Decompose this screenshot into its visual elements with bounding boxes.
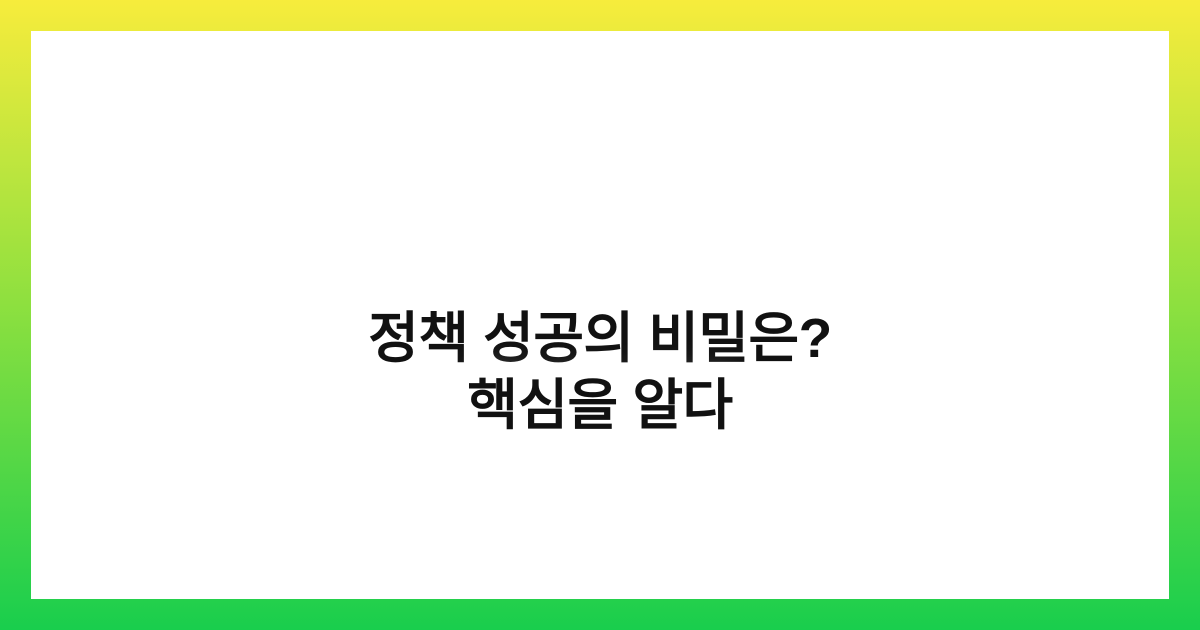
cohort-cell (982, 105, 1027, 128)
cohort-cell (759, 108, 804, 131)
metric-value: 2:41 (682, 210, 702, 222)
cohort-row-label: Jul 12 - Jul 18 (711, 162, 768, 174)
cohort-cell (952, 197, 997, 220)
metric-label: Avg. time (561, 226, 589, 236)
cohort-row-label: Jul 19 - Jul 25 (715, 184, 772, 196)
cohort-cell (905, 180, 950, 203)
cohort-cell (908, 202, 953, 225)
cohort-row-label: Jul 26 - Aug 01 (719, 205, 776, 217)
cohort-cell (1000, 214, 1045, 237)
cohort-cell (934, 89, 979, 112)
metric-value: 1,132 (666, 141, 690, 153)
cohort-cell (992, 171, 1037, 194)
cohort-cell (894, 115, 939, 138)
cohort-cell (949, 175, 994, 198)
metric-value: 512 (680, 176, 697, 187)
cohort-cell (854, 141, 899, 164)
cohort-cell (901, 158, 946, 181)
cohort-cell (985, 127, 1030, 150)
cohort-cell (766, 151, 811, 174)
metric-label: Active users (550, 156, 586, 167)
cohort-cell (945, 154, 990, 177)
page-title-line-1: 정책 성공의 비밀은? (368, 307, 831, 369)
cohort-row-label: All Users (704, 119, 761, 131)
cohort-cell (865, 207, 910, 230)
cohort-cell (941, 132, 986, 155)
cohort-cell (938, 110, 983, 133)
cohort-cell (857, 163, 902, 186)
cohort-cell (770, 173, 815, 196)
metric-label: New users (556, 191, 588, 201)
cohort-cell (978, 84, 1023, 107)
cohort-cell (810, 146, 855, 169)
cohort-cell (814, 168, 859, 191)
cohort-cell (821, 211, 866, 234)
cohort-cell (763, 129, 808, 152)
cohort-cell (989, 149, 1034, 172)
desk-surface (31, 501, 1169, 599)
cohort-cell (803, 103, 848, 126)
page-title-line-2: 핵심을 알다 (120, 372, 1080, 439)
cohort-cell (777, 216, 822, 239)
cohort-cell (996, 192, 1041, 215)
cohort-cell (773, 194, 818, 217)
page-title: 정책 성공의 비밀은? 핵심을 알다 (0, 238, 1200, 506)
cohort-cell (898, 137, 943, 160)
cohort-cell (850, 120, 895, 143)
cohort-cell (861, 185, 906, 208)
metric-label: Sessions (544, 122, 571, 132)
cohort-row-label: Jul 05 - Jul 11 (708, 140, 765, 152)
metric-value: 4,820 (661, 107, 685, 119)
cohort-cell (890, 93, 935, 116)
cohort-cell (806, 125, 851, 148)
cohort-cell (847, 98, 892, 121)
cohort-cell (817, 190, 862, 213)
promo-card: analytics.example.com/report/cohort?id=1… (0, 0, 1200, 630)
